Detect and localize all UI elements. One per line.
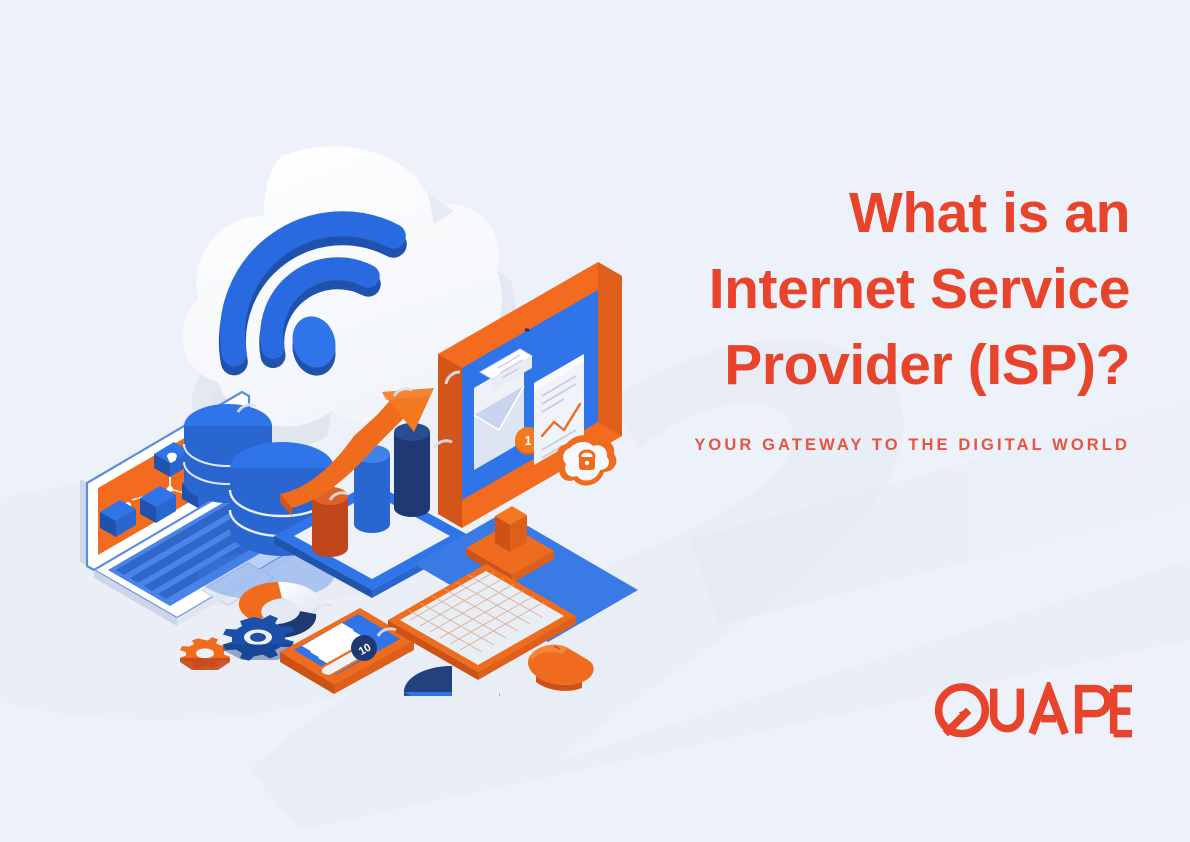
letter-a [1032, 689, 1065, 734]
mouse-device [528, 645, 594, 691]
bar-item-3 [394, 423, 430, 517]
q-circle-icon [939, 687, 986, 734]
quape-logo-svg [932, 682, 1132, 742]
poster-canvas: 10 [0, 0, 1190, 842]
brand-logo[interactable]: QUAPE [932, 682, 1132, 742]
email-badge-label: 1 [524, 433, 531, 448]
phone-notification-badge: 10 [351, 635, 377, 661]
page-subtitle: YOUR GATEWAY TO THE DIGITAL WORLD [610, 429, 1130, 462]
gear-small-orange [180, 637, 230, 670]
page-title: What is an Internet Service Provider (IS… [610, 176, 1130, 403]
letter-e [1114, 689, 1132, 734]
letter-p [1079, 689, 1108, 734]
hero-text-block: What is an Internet Service Provider (IS… [610, 176, 1130, 462]
hero-illustration: 10 [42, 96, 682, 696]
letter-u [994, 689, 1021, 729]
